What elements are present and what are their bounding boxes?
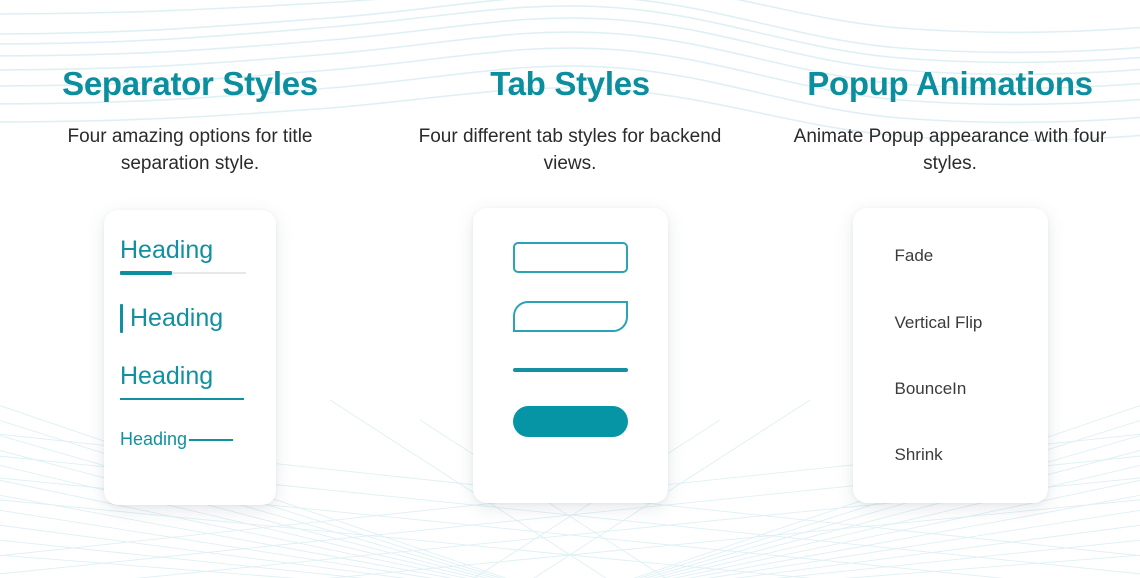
column-description-popup-animations: Animate Popup appearance with four style… — [785, 124, 1115, 178]
separator-style-2-label: Heading — [130, 304, 223, 333]
separator-style-2[interactable]: Heading — [104, 304, 276, 333]
separator-style-4-label: Heading — [120, 429, 187, 450]
separator-style-3[interactable]: Heading — [104, 362, 276, 400]
popup-animations-card: Fade Vertical Flip BounceIn Shrink — [853, 208, 1048, 503]
column-description-separator-styles: Four amazing options for title separatio… — [25, 124, 355, 178]
tab-style-3-underline-bar[interactable] — [513, 368, 628, 372]
popup-animation-item-shrink[interactable]: Shrink — [895, 445, 1048, 465]
tab-styles-card — [473, 208, 668, 503]
separator-style-4[interactable]: Heading — [104, 429, 276, 450]
separator-style-1-rule-accent — [120, 271, 172, 275]
separator-style-3-rule — [120, 398, 244, 400]
popup-animation-item-fade[interactable]: Fade — [895, 246, 1048, 266]
separator-style-4-rule — [189, 439, 233, 441]
tab-style-2-diagonal-rounded[interactable] — [513, 301, 628, 332]
separator-style-1-rule — [120, 271, 246, 275]
popup-animation-item-bouncein[interactable]: BounceIn — [895, 379, 1048, 399]
tab-style-1-rounded-rectangle[interactable] — [513, 242, 628, 273]
column-title-separator-styles: Separator Styles — [62, 66, 318, 102]
column-title-popup-animations: Popup Animations — [807, 66, 1092, 102]
column-description-tab-styles: Four different tab styles for backend vi… — [405, 124, 735, 178]
separator-styles-card: Heading Heading Heading Heading — [104, 210, 276, 505]
column-title-tab-styles: Tab Styles — [490, 66, 650, 102]
feature-columns: Separator Styles Four amazing options fo… — [0, 0, 1140, 578]
column-tab-styles: Tab Styles Four different tab styles for… — [380, 0, 760, 578]
separator-style-1[interactable]: Heading — [104, 236, 276, 275]
tab-style-4-solid-pill[interactable] — [513, 406, 628, 437]
column-popup-animations: Popup Animations Animate Popup appearanc… — [760, 0, 1140, 578]
column-separator-styles: Separator Styles Four amazing options fo… — [0, 0, 380, 578]
separator-style-3-label: Heading — [120, 362, 276, 391]
separator-style-1-label: Heading — [120, 236, 276, 265]
separator-style-4-row: Heading — [120, 429, 276, 450]
separator-style-2-vertical-bar — [120, 304, 123, 333]
popup-animation-item-vertical-flip[interactable]: Vertical Flip — [895, 313, 1048, 333]
separator-style-2-row: Heading — [120, 304, 276, 333]
